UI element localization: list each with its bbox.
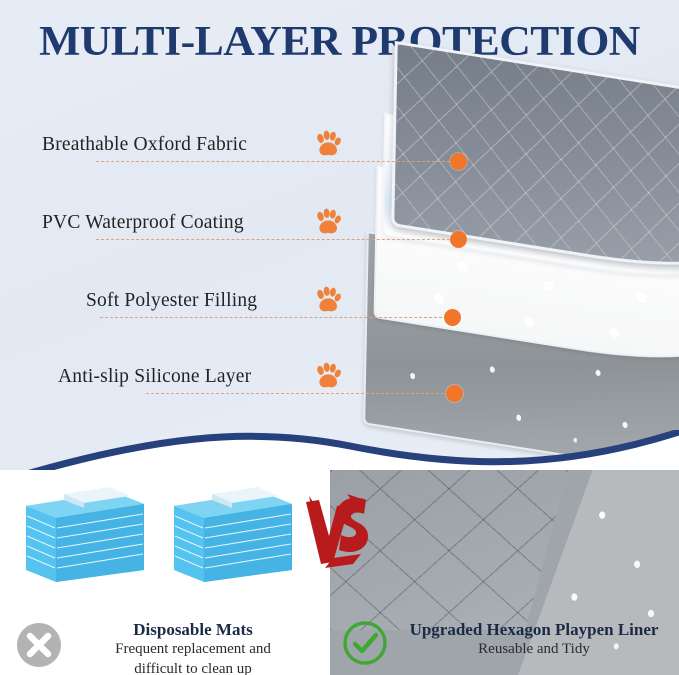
multi-layer-panel: MULTI-LAYER PROTECTION Breathable Oxford… [0, 0, 679, 492]
feature-label: Breathable Oxford Fabric [42, 134, 247, 156]
feature-label: Anti-slip Silicone Layer [58, 366, 251, 388]
x-mark-icon [16, 622, 62, 668]
disposable-title: Disposable Mats [68, 620, 318, 640]
endpoint-dot [444, 309, 461, 326]
endpoint-dot [450, 231, 467, 248]
connector-line [96, 239, 460, 240]
infographic-root: MULTI-LAYER PROTECTION Breathable Oxford… [0, 0, 679, 675]
disposable-pad-stacks [18, 478, 308, 588]
connector-line [96, 161, 460, 162]
vs-graphic [303, 492, 377, 574]
layered-product-illustration [355, 60, 679, 460]
paw-print-icon [313, 362, 343, 392]
disposable-caption: Disposable Mats Frequent replacement and… [68, 620, 318, 675]
endpoint-dot [450, 153, 467, 170]
disposable-line1: Frequent replacement and [68, 640, 318, 659]
paw-print-icon [313, 286, 343, 316]
page-title: MULTI-LAYER PROTECTION [0, 18, 679, 66]
feature-label: PVC Waterproof Coating [42, 212, 244, 234]
feature-label: Soft Polyester Filling [86, 290, 257, 312]
upgraded-title: Upgraded Hexagon Playpen Liner [394, 620, 674, 640]
connector-line [100, 317, 452, 318]
endpoint-dot [446, 385, 463, 402]
disposable-line2: difficult to clean up [68, 660, 318, 675]
paw-print-icon [313, 208, 343, 238]
upgraded-caption: Upgraded Hexagon Playpen Liner Reusable … [394, 620, 674, 660]
paw-print-icon [313, 130, 343, 160]
upgraded-line1: Reusable and Tidy [394, 640, 674, 659]
check-mark-icon [342, 620, 388, 666]
connector-line [146, 393, 454, 394]
